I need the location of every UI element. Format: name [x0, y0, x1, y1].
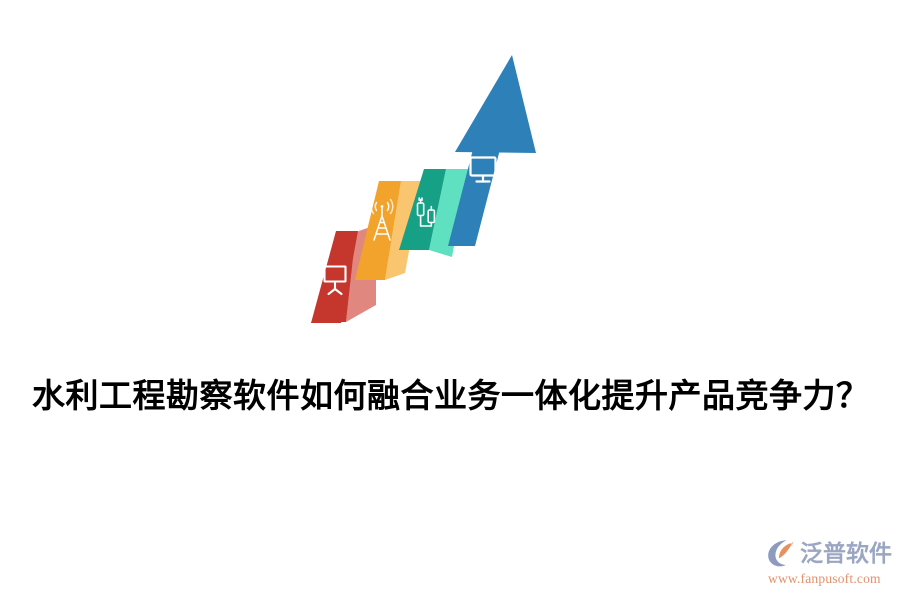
page-title: 水利工程勘察软件如何融合业务一体化提升产品竞争力？ [32, 374, 872, 420]
ribbon-segment-blue-arrow [448, 55, 536, 246]
hero-zigzag-arrow-graphic [300, 50, 560, 340]
brand-name: 泛普软件 [800, 537, 892, 569]
arrow-head [455, 55, 536, 153]
brand-logo[interactable]: 泛普软件 www.fanpusoft.com [766, 536, 890, 590]
page-canvas: 水利工程勘察软件如何融合业务一体化提升产品竞争力？ 泛普软件 www.fanpu… [0, 0, 900, 600]
brand-url[interactable]: www.fanpusoft.com [768, 571, 890, 587]
fanpu-swoosh-logo-icon [766, 537, 798, 569]
brand-logo-row: 泛普软件 [766, 536, 890, 570]
